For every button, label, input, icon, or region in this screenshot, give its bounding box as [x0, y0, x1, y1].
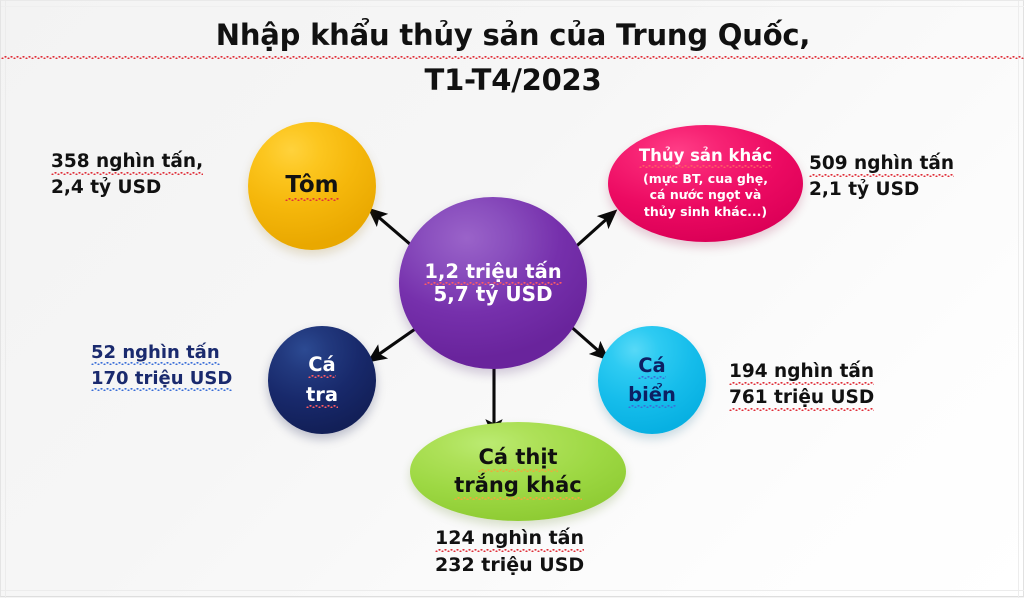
- node-shrimp-label: Tôm: [285, 172, 338, 199]
- arrow-to-marine-fish: [568, 324, 602, 354]
- node-other-seafood-sub-3: thủy sinh khác...): [639, 204, 772, 221]
- canvas-edge-bottom: [1, 590, 1024, 591]
- node-pangasius-label: Cá tra: [306, 350, 338, 410]
- node-pangasius-label-2: tra: [306, 383, 338, 409]
- callout-other-seafood: 509 nghìn tấn 2,1 tỷ USD: [809, 151, 954, 204]
- callout-other-seafood-volume: 509 nghìn tấn: [809, 153, 954, 178]
- callout-pangasius-value: 170 triệu USD: [91, 368, 232, 392]
- node-marine-fish-label: Cá biển: [628, 351, 676, 410]
- node-other-seafood-sub-2: cá nước ngọt và: [639, 187, 772, 204]
- callout-whitefish-volume: 124 nghìn tấn: [435, 527, 584, 553]
- node-whitefish-label: Cá thịt trắng khác: [454, 444, 581, 499]
- node-total-label: 1,2 triệu tấn 5,7 tỷ USD: [424, 260, 561, 307]
- callout-pangasius: 52 nghìn tấn 170 triệu USD: [91, 340, 232, 391]
- canvas-edge-top: [1, 6, 1024, 7]
- callout-marine-fish-volume: 194 nghìn tấn: [729, 361, 874, 386]
- node-other-seafood-sub-1: (mực BT, cua ghẹ,: [639, 171, 772, 188]
- callout-marine-fish: 194 nghìn tấn 761 triệu USD: [729, 359, 874, 412]
- node-other-seafood-title: Thủy sản khác: [639, 146, 772, 168]
- callout-whitefish: 124 nghìn tấn 232 triệu USD: [435, 525, 584, 579]
- node-other-seafood-label: Thủy sản khác (mực BT, cua ghẹ, cá nước …: [639, 146, 772, 220]
- node-total-imports[interactable]: 1,2 triệu tấn 5,7 tỷ USD: [399, 197, 587, 369]
- node-marine-fish-label-2: biển: [628, 383, 676, 409]
- callout-shrimp-volume: 358 nghìn tấn,: [51, 151, 203, 176]
- page-title: Nhập khẩu thủy sản của Trung Quốc, T1-T4…: [1, 15, 1024, 101]
- node-marine-fish-label-1: Cá: [638, 354, 665, 380]
- node-other-seafood[interactable]: Thủy sản khác (mực BT, cua ghẹ, cá nước …: [608, 125, 803, 242]
- callout-shrimp-value: 2,4 tỷ USD: [51, 177, 161, 198]
- total-value: 5,7 tỷ USD: [433, 282, 552, 306]
- node-pangasius[interactable]: Cá tra: [268, 326, 376, 434]
- node-whitefish[interactable]: Cá thịt trắng khác: [410, 422, 626, 521]
- callout-other-seafood-value: 2,1 tỷ USD: [809, 179, 919, 200]
- node-pangasius-label-1: Cá: [308, 353, 335, 379]
- arrow-to-pangasius: [375, 327, 418, 357]
- node-marine-fish[interactable]: Cá biển: [598, 326, 706, 434]
- callout-marine-fish-value: 761 triệu USD: [729, 387, 874, 412]
- callout-shrimp: 358 nghìn tấn, 2,4 tỷ USD: [51, 149, 203, 202]
- node-whitefish-label-1: Cá thịt: [478, 445, 557, 473]
- page-title-line-1: Nhập khẩu thủy sản của Trung Quốc,: [1, 15, 1024, 60]
- page-title-line-2: T1-T4/2023: [1, 60, 1024, 101]
- node-shrimp[interactable]: Tôm: [248, 122, 376, 250]
- infographic-canvas: Nhập khẩu thủy sản của Trung Quốc, T1-T4…: [0, 0, 1024, 597]
- node-shrimp-label-text: Tôm: [285, 172, 338, 202]
- node-whitefish-label-2: trắng khác: [454, 473, 581, 501]
- callout-whitefish-value: 232 triệu USD: [435, 554, 584, 576]
- callout-pangasius-volume: 52 nghìn tấn: [91, 342, 220, 366]
